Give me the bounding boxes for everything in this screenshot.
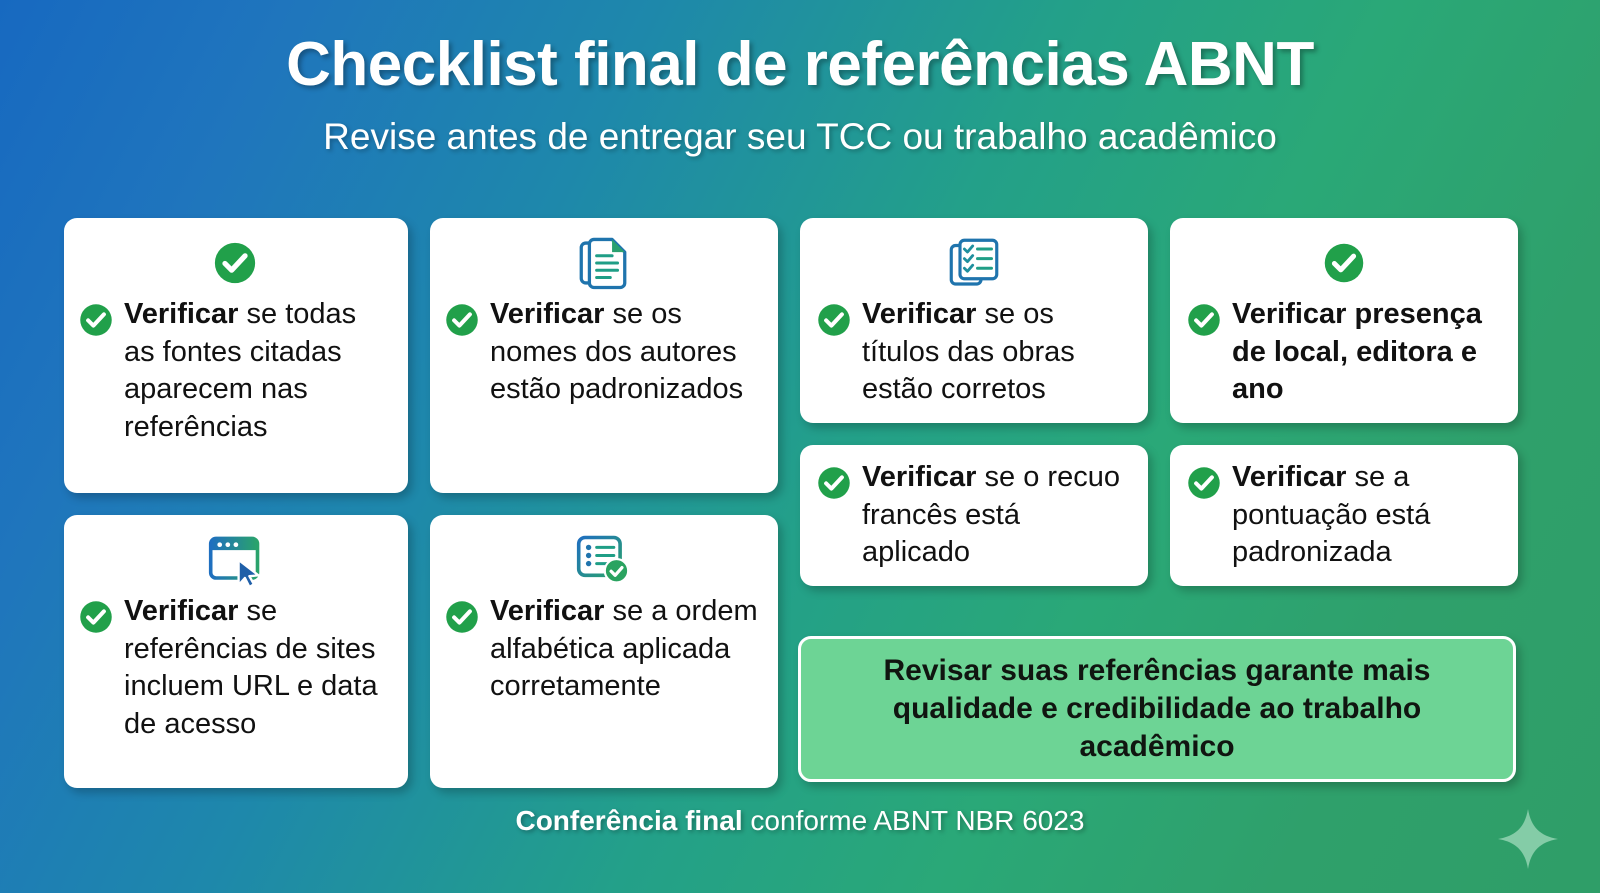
checklist-card-sites-url-acesso[interactable]: Verificar se referências de sites inclue…: [64, 515, 408, 788]
checklist-card-lead: Verificar: [490, 595, 604, 627]
page-subtitle: Revise antes de entregar seu TCC ou trab…: [0, 116, 1600, 158]
checklist-card-nomes-autores[interactable]: Verificar se os nomes dos autores estão …: [430, 218, 778, 493]
check-bullet-icon: [78, 302, 114, 343]
footer: Conferência final conforme ABNT NBR 6023: [0, 805, 1600, 837]
column-local-editora: Verificar presença de local, editora e a…: [1170, 218, 1518, 493]
checklist-card-text: Verificar se a ordem alfabética aplicada…: [490, 593, 762, 706]
check-bullet-icon: [78, 599, 114, 640]
highlight-banner-text: Revisar suas referências garante mais qu…: [819, 652, 1495, 766]
check-circle-icon: [1186, 232, 1502, 294]
highlight-banner: Revisar suas referências garante mais qu…: [798, 636, 1516, 782]
check-bullet-icon: [816, 465, 852, 506]
checklist-card-text: Verificar se os títulos das obras estão …: [862, 296, 1132, 409]
footer-rest-text: conforme ABNT NBR 6023: [743, 805, 1085, 836]
checklist-card-lead: Verificar: [490, 298, 604, 330]
checklist-card-text: Verificar se os nomes dos autores estão …: [490, 296, 762, 409]
checklist-card-lead: Verificar: [124, 298, 238, 330]
documents-icon: [444, 232, 762, 294]
footer-bold-text: Conferência final: [515, 805, 742, 836]
check-bullet-icon: [444, 599, 480, 640]
checklist-card-pontuacao[interactable]: Verificar se a pontuação está padronizad…: [1170, 445, 1518, 586]
check-bullet-icon: [816, 302, 852, 343]
checklist-card-lead: Verificar: [862, 461, 976, 493]
checklist-card-text: Verificar se o recuo francês está aplica…: [862, 459, 1132, 572]
checklist-clipboard-icon: [816, 232, 1132, 294]
sparkle-icon: [1496, 807, 1560, 871]
column-titulos-obras: Verificar se os títulos das obras estão …: [800, 218, 1148, 493]
browser-cursor-icon: [78, 529, 392, 591]
check-bullet-icon: [1186, 302, 1222, 343]
check-circle-icon: [78, 232, 392, 294]
checklist-card-lead: Verificar: [124, 595, 238, 627]
checklist-card-lead: Verificar: [1232, 461, 1346, 493]
checklist-card-local-editora-ano[interactable]: Verificar presença de local, editora e a…: [1170, 218, 1518, 423]
checklist-grid: Verificar se todas as fontes citadas apa…: [64, 218, 1516, 788]
check-bullet-icon: [1186, 465, 1222, 506]
check-bullet-icon: [444, 302, 480, 343]
checklist-card-recuo-frances[interactable]: Verificar se o recuo francês está aplica…: [800, 445, 1148, 586]
page-title: Checklist final de referências ABNT: [0, 34, 1600, 96]
checklist-card-text: Verificar presença de local, editora e a…: [1232, 296, 1502, 409]
checklist-card-ordem-alfabetica[interactable]: Verificar se a ordem alfabética aplicada…: [430, 515, 778, 788]
checklist-card-text: Verificar se todas as fontes citadas apa…: [124, 296, 392, 447]
checklist-card-titulos-obras[interactable]: Verificar se os títulos das obras estão …: [800, 218, 1148, 423]
checklist-card-lead: Verificar: [862, 298, 976, 330]
checklist-card-text: Verificar se referências de sites inclue…: [124, 593, 392, 744]
checklist-card-text: Verificar se a pontuação está padronizad…: [1232, 459, 1502, 572]
list-check-icon: [444, 529, 762, 591]
checklist-card-fontes-citadas[interactable]: Verificar se todas as fontes citadas apa…: [64, 218, 408, 493]
checklist-card-lead: Verificar: [1232, 298, 1346, 330]
header: Checklist final de referências ABNT Revi…: [0, 0, 1600, 158]
